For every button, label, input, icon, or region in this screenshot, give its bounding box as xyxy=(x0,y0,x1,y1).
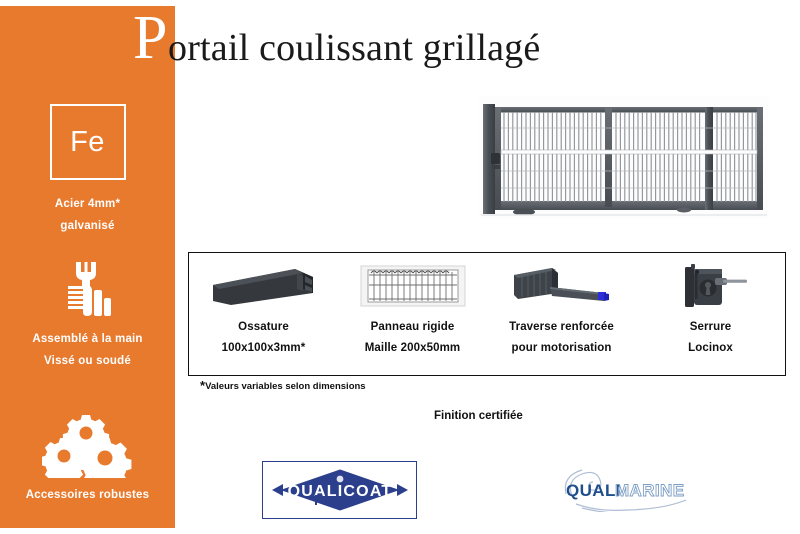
post-profile-icon xyxy=(209,260,319,312)
feature-sidebar: Fe Acier 4mm* galvanisé xyxy=(0,6,175,528)
component-ossature-spec: 100x100x3mm* xyxy=(222,341,306,355)
component-serrure: Serrure Locinox xyxy=(636,253,785,375)
component-traverse: Traverse renforcée pour motorisation xyxy=(487,253,636,375)
component-ossature-title: Ossature xyxy=(238,320,289,334)
rigid-mesh-panel-icon xyxy=(359,260,467,312)
sliding-gate-photo xyxy=(479,96,769,218)
qualimarine-logo: QUALI MARINE xyxy=(558,466,708,512)
qualicoat-text: QUALICOAT xyxy=(287,483,392,500)
sidebar-item-assembly: Assemblé à la main Vissé ou soudé xyxy=(0,255,175,373)
product-sheet-page: Fe Acier 4mm* galvanisé xyxy=(0,0,800,534)
qualimarine-text-bold: QUALI xyxy=(566,481,621,500)
footnote: *Valeurs variables selon dimensions xyxy=(200,381,366,392)
component-serrure-title: Serrure xyxy=(690,320,732,334)
fe-element-box-icon: Fe xyxy=(50,104,126,180)
certification-label: Finition certifiée xyxy=(434,410,523,422)
sidebar-item-accessories: Accessoires robustes xyxy=(0,411,175,507)
sidebar-assembly-line2: Vissé ou soudé xyxy=(0,351,175,373)
component-traverse-title: Traverse renforcée xyxy=(509,320,614,334)
lock-icon xyxy=(665,260,757,312)
title-rest: ortail coulissant grillagé xyxy=(168,27,540,69)
component-serrure-spec: Locinox xyxy=(688,341,733,355)
sidebar-item-steel: Fe Acier 4mm* galvanisé xyxy=(0,104,175,238)
components-box: Ossature 100x100x3mm* xyxy=(188,252,786,376)
gears-icon xyxy=(0,411,175,479)
fe-symbol: Fe xyxy=(70,126,105,159)
sidebar-steel-line1: Acier 4mm* xyxy=(0,194,175,216)
component-panneau-spec: Maille 200x50mm xyxy=(365,341,460,355)
qualimarine-text-light: MARINE xyxy=(615,481,684,500)
title-drop-cap: P xyxy=(133,7,168,69)
component-ossature: Ossature 100x100x3mm* xyxy=(189,253,338,375)
component-panneau: Panneau rigide Maille 200x50mm xyxy=(338,253,487,375)
sidebar-assembly-line1: Assemblé à la main xyxy=(0,329,175,351)
wrench-hand-tools-icon xyxy=(0,255,175,323)
component-panneau-title: Panneau rigide xyxy=(371,320,455,334)
page-title: P ortail coulissant grillagé xyxy=(133,26,540,70)
sidebar-accessories-line1: Accessoires robustes xyxy=(0,485,175,507)
motorisation-crossbar-icon xyxy=(506,260,618,312)
qualicoat-logo: QUALICOAT xyxy=(262,461,417,519)
footnote-text: Valeurs variables selon dimensions xyxy=(205,381,366,392)
component-traverse-spec: pour motorisation xyxy=(511,341,611,355)
sidebar-steel-line2: galvanisé xyxy=(0,216,175,238)
